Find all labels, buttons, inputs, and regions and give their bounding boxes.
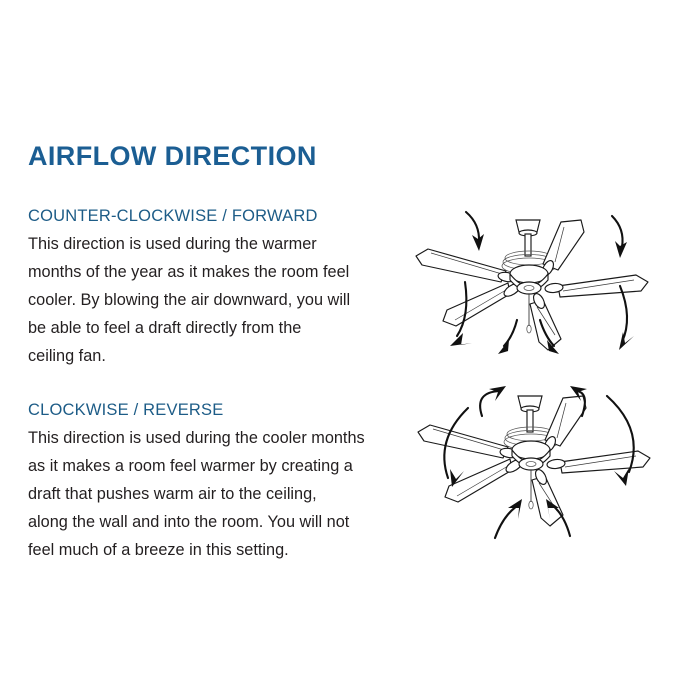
body-line: This direction is used during the cooler…: [28, 424, 390, 452]
body-line: feel much of a breeze in this setting.: [28, 536, 390, 564]
body-line: cooler. By blowing the air downward, you…: [28, 286, 390, 314]
ceiling-fan-updraft-icon: [394, 378, 686, 544]
body-line: be able to feel a draft directly from th…: [28, 314, 390, 342]
section-heading-forward: COUNTER-CLOCKWISE / FORWARD: [28, 206, 390, 227]
text-column: COUNTER-CLOCKWISE / FORWARD This directi…: [28, 206, 390, 564]
body-line: months of the year as it makes the room …: [28, 258, 390, 286]
section-counter-clockwise-forward: COUNTER-CLOCKWISE / FORWARD This directi…: [28, 206, 390, 370]
section-body-forward: This direction is used during the warmer…: [28, 230, 390, 370]
section-heading-reverse: CLOCKWISE / REVERSE: [28, 400, 390, 421]
section-body-reverse: This direction is used during the cooler…: [28, 424, 390, 564]
fan-body-reverse: [418, 396, 650, 526]
section-clockwise-reverse: CLOCKWISE / REVERSE This direction is us…: [28, 400, 390, 564]
ceiling-fan-downdraft-icon: [398, 208, 684, 374]
body-line: ceiling fan.: [28, 342, 390, 370]
page-root: AIRFLOW DIRECTION COUNTER-CLOCKWISE / FO…: [0, 0, 700, 700]
fan-body-forward: [416, 220, 648, 350]
body-line: draft that pushes warm air to the ceilin…: [28, 480, 390, 508]
page-title: AIRFLOW DIRECTION: [28, 142, 317, 172]
body-line: This direction is used during the warmer: [28, 230, 390, 258]
body-line: along the wall and into the room. You wi…: [28, 508, 390, 536]
body-line: as it makes a room feel warmer by creati…: [28, 452, 390, 480]
